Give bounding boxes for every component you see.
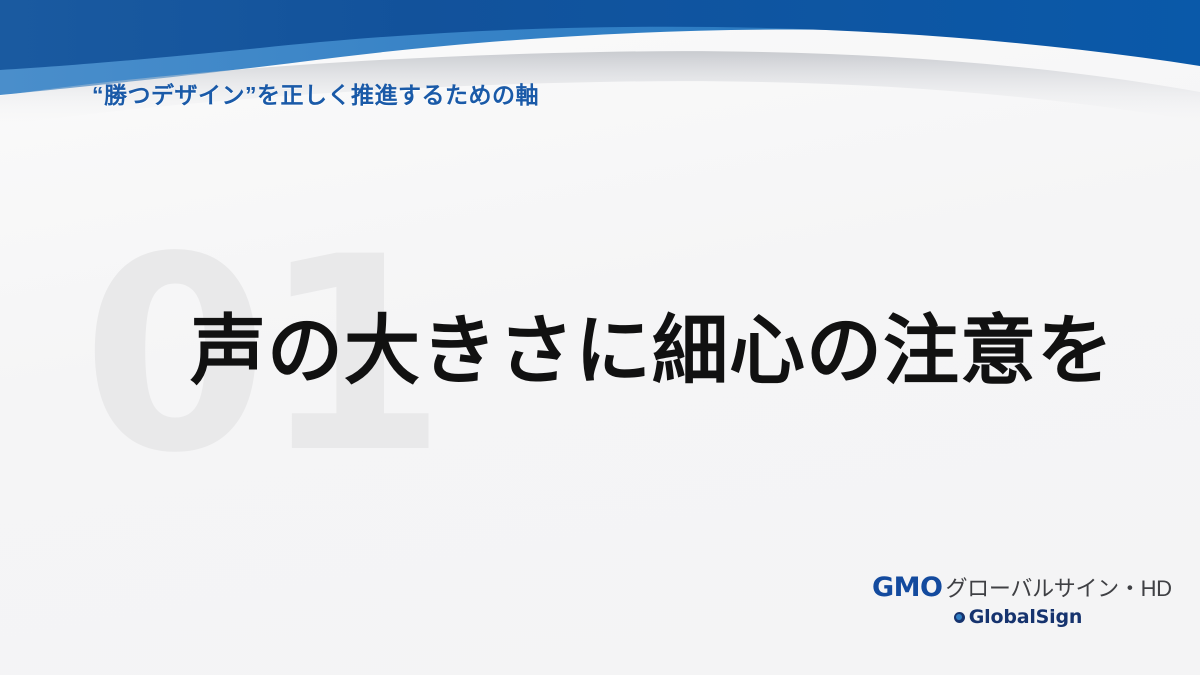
gmo-globalsign-logo: GMO グローバルサイン・HD GlobalSign [872, 571, 1120, 628]
logo-globalsign-wordmark: GlobalSign [969, 606, 1082, 628]
logo-secondary-row: GlobalSign [916, 606, 1120, 628]
presentation-slide: “勝つデザイン”を正しく推進するための軸 01 声の大きさに細心の注意を GMO… [0, 0, 1200, 675]
logo-primary-row: GMO グローバルサイン・HD [872, 571, 1120, 603]
header-swoosh-decoration [0, 0, 1200, 130]
globalsign-dot-icon [954, 612, 965, 623]
slide-headline: 声の大きさに細心の注意を [190, 312, 1114, 393]
page-title: “勝つデザイン”を正しく推進するための軸 [92, 76, 539, 110]
logo-japanese-wordmark: グローバルサイン・HD [945, 571, 1171, 603]
swoosh-band-dark [0, 0, 1200, 70]
logo-gmo-wordmark: GMO [872, 572, 942, 603]
